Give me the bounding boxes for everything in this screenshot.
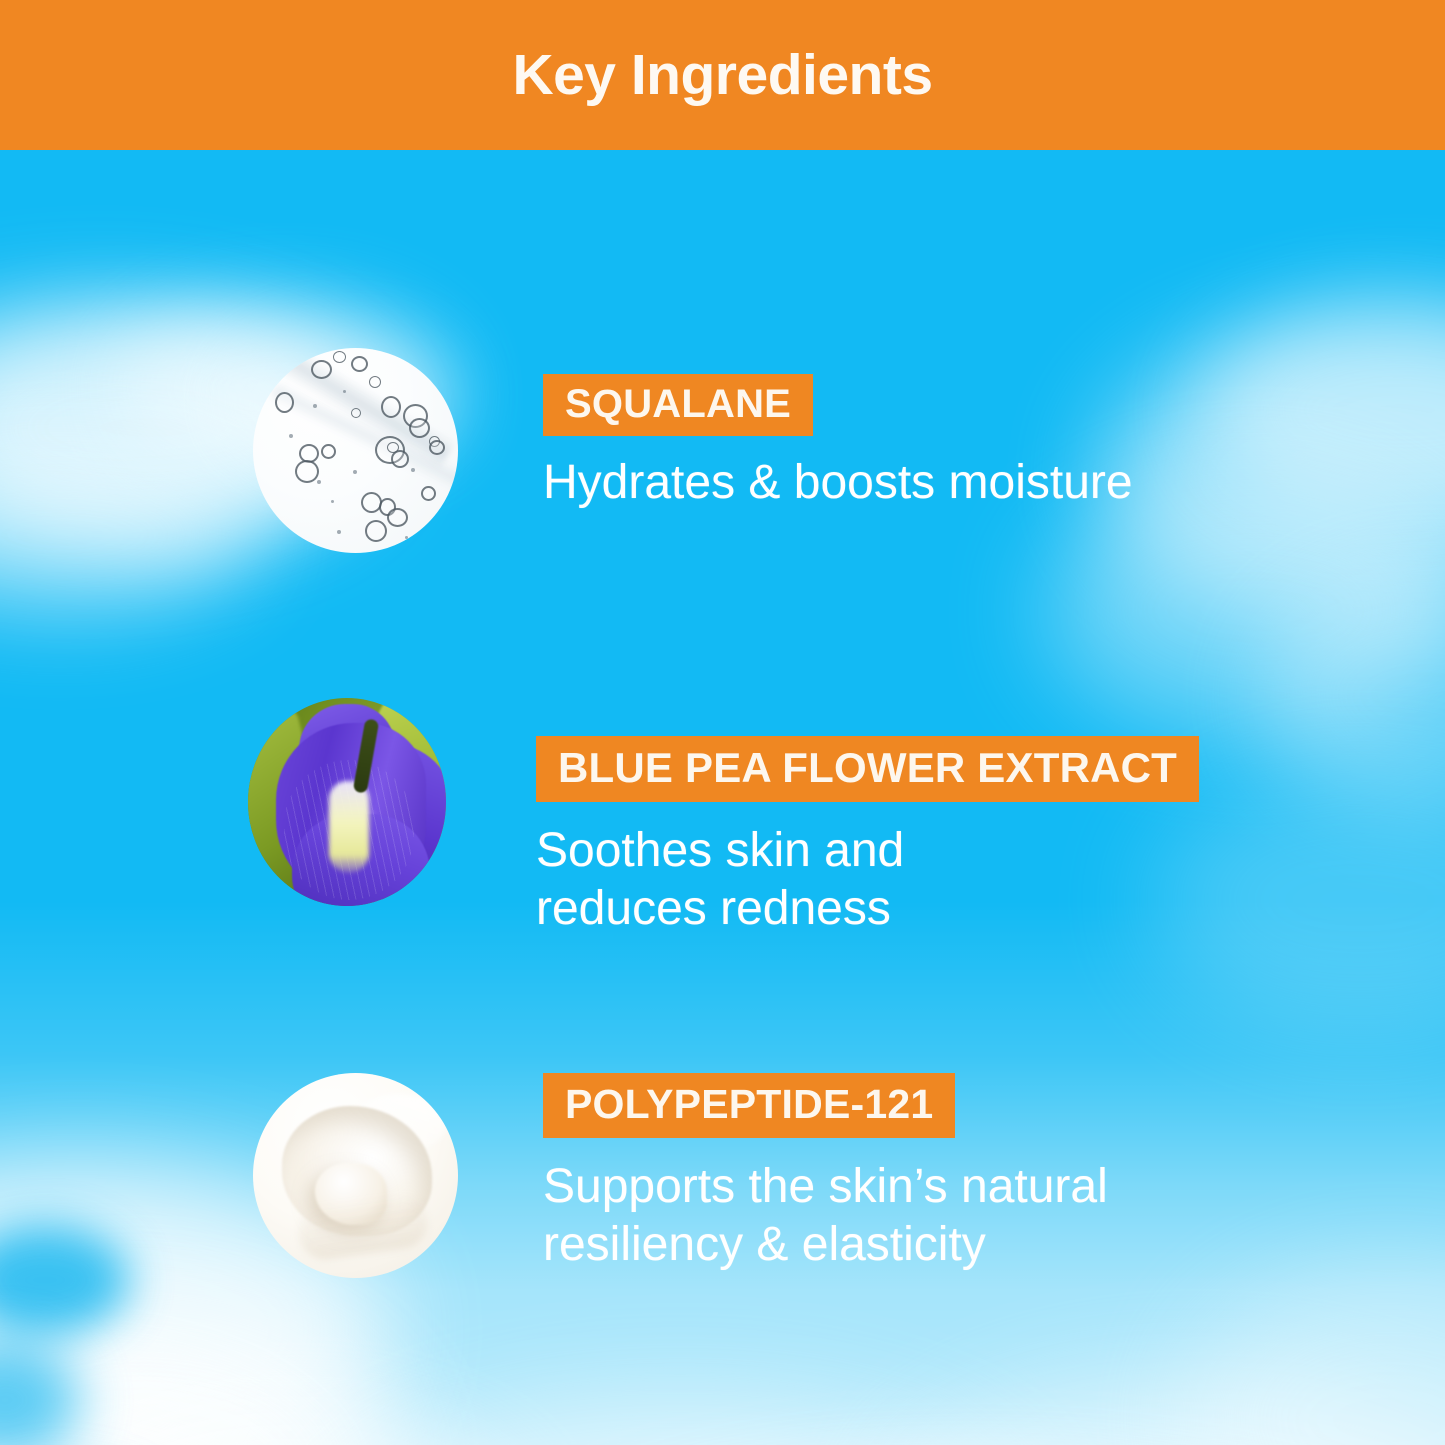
cloud-shape <box>330 1410 1030 1445</box>
flower-center <box>329 781 369 873</box>
polypeptide-thumbnail <box>253 1073 458 1278</box>
bubble-dot <box>289 434 293 438</box>
ingredient-text: SQUALANE Hydrates & boosts moisture <box>543 348 1133 512</box>
bubble <box>381 396 401 418</box>
ingredient-row: POLYPEPTIDE-121 Supports the skin’s natu… <box>253 1073 1108 1278</box>
bubble <box>295 460 319 483</box>
sky-patch <box>0 1225 130 1335</box>
ingredient-name-badge: SQUALANE <box>543 374 813 436</box>
ingredient-description: Supports the skin’s natural resiliency &… <box>543 1158 1108 1273</box>
bubble-dot <box>313 404 317 408</box>
cloud-shape <box>60 1430 520 1445</box>
bubble-dot <box>411 468 415 472</box>
bubble-dot <box>353 470 357 474</box>
bubble <box>429 440 445 455</box>
key-ingredients-infographic: Key Ingredients <box>0 0 1445 1445</box>
bubble <box>351 356 368 372</box>
bubble <box>369 376 381 388</box>
blue-pea-flower-thumbnail <box>248 698 446 906</box>
bubble <box>311 360 332 379</box>
bubble <box>391 450 409 468</box>
bubble-dot <box>331 500 334 503</box>
cloud-shape <box>880 1380 1445 1445</box>
cloud-shape <box>0 450 260 620</box>
squalane-thumbnail <box>253 348 458 553</box>
header-bar: Key Ingredients <box>0 0 1445 150</box>
bubble <box>421 486 436 501</box>
bubble <box>351 408 361 418</box>
cloud-shape <box>0 1300 400 1445</box>
bubble <box>387 508 408 527</box>
page-title: Key Ingredients <box>512 47 932 104</box>
bubble <box>365 520 387 542</box>
cloud-shape <box>1205 300 1445 520</box>
ingredient-description: Hydrates & boosts moisture <box>543 454 1133 512</box>
cloud-shape <box>1100 325 1445 625</box>
bubble <box>321 444 336 459</box>
bubble <box>409 418 430 438</box>
bubble-dot <box>337 530 341 534</box>
sky-patch <box>0 1340 80 1445</box>
bubble <box>333 351 346 363</box>
ingredient-description: Soothes skin and reduces redness <box>536 822 1199 937</box>
ingredient-text: BLUE PEA FLOWER EXTRACT Soothes skin and… <box>536 698 1199 937</box>
ingredient-text: POLYPEPTIDE-121 Supports the skin’s natu… <box>543 1073 1108 1273</box>
bubble-dot <box>405 536 408 539</box>
ingredient-row: BLUE PEA FLOWER EXTRACT Soothes skin and… <box>248 698 1199 937</box>
ingredient-row: SQUALANE Hydrates & boosts moisture <box>253 348 1133 553</box>
bubble <box>275 392 294 413</box>
cloud-shape <box>1180 1270 1445 1445</box>
bubble-dot <box>343 390 346 393</box>
cloud-shape <box>0 1380 310 1445</box>
bubble-dot <box>317 480 321 484</box>
ingredient-name-badge: BLUE PEA FLOWER EXTRACT <box>536 736 1199 802</box>
ingredient-name-badge: POLYPEPTIDE-121 <box>543 1073 955 1138</box>
cloud-shape <box>1260 580 1445 810</box>
